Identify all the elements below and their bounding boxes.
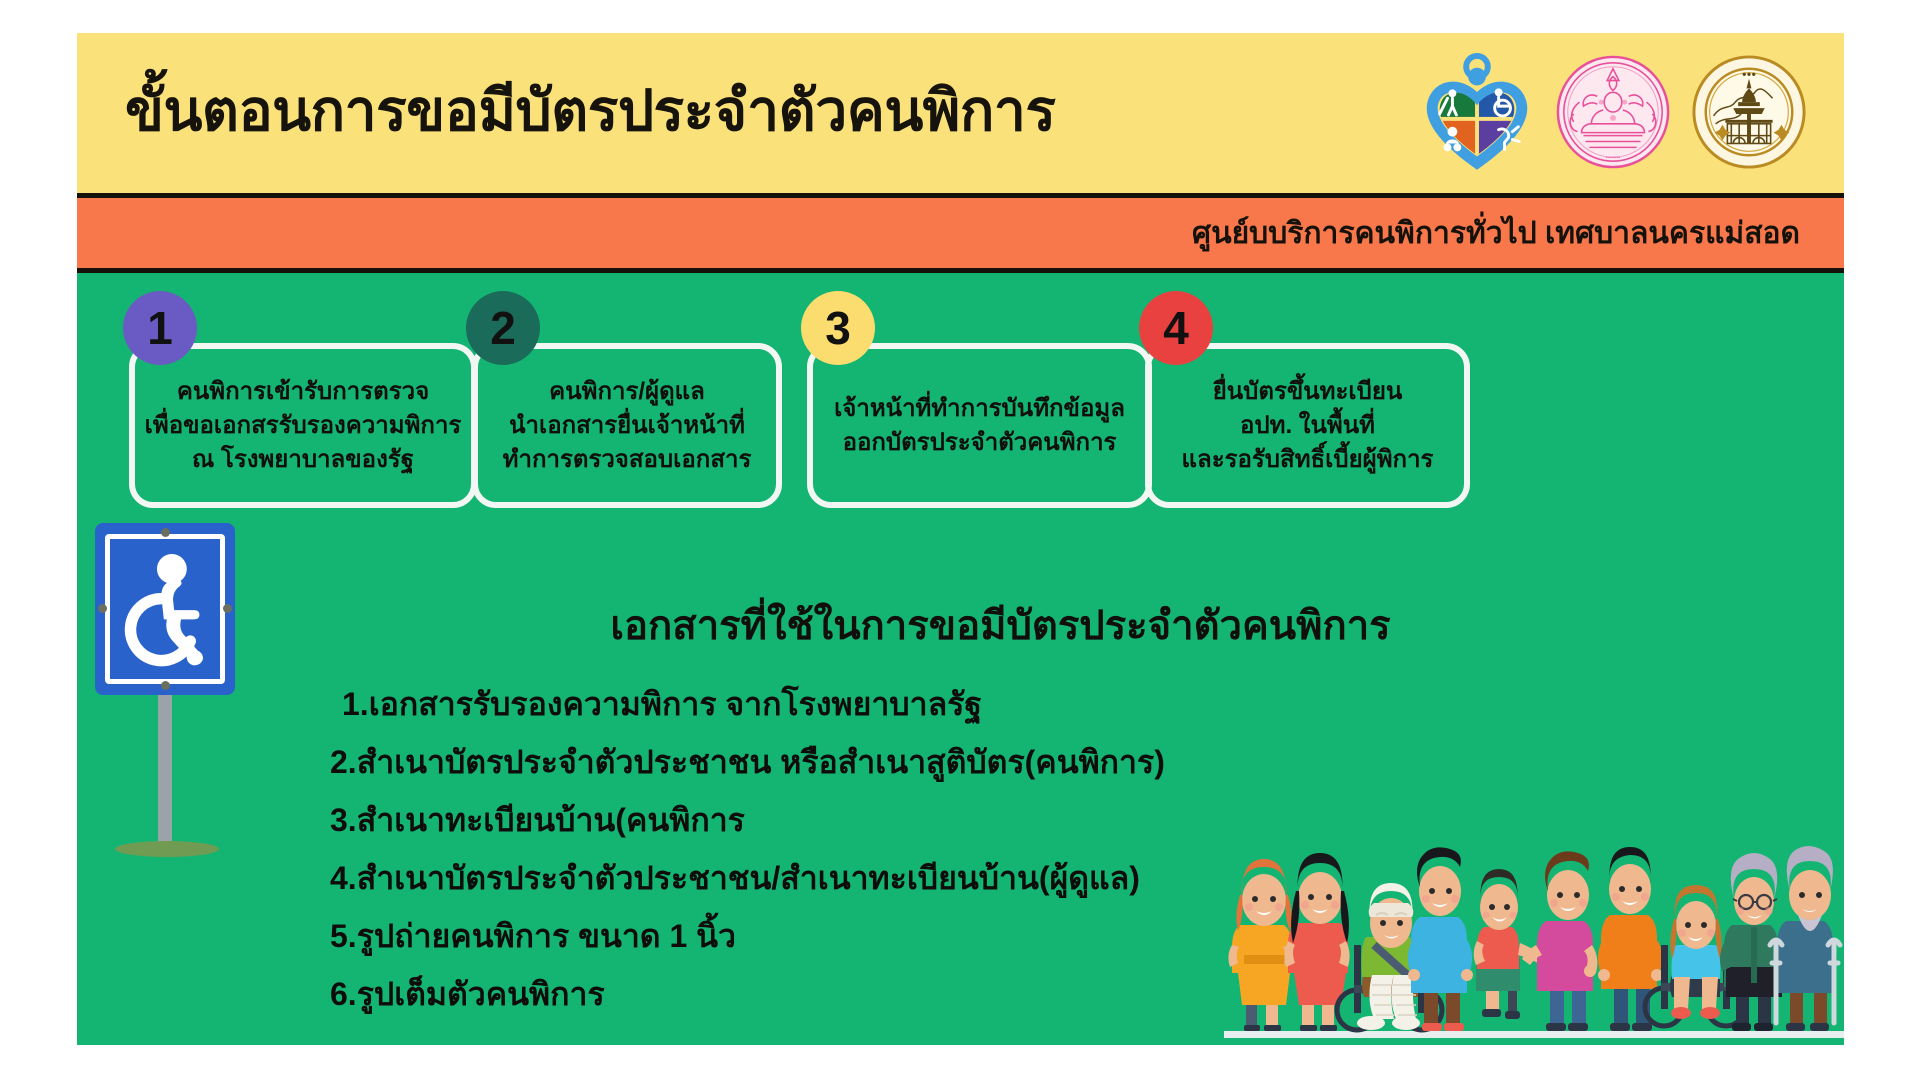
diverse-people-with-disabilities-illustration xyxy=(1224,795,1844,1045)
list-item: 1.เอกสารรับรองความพิการ จากโรงพยาบาลรัฐ xyxy=(342,688,1342,720)
wheelchair-symbol-icon xyxy=(95,523,235,695)
person-woman-magenta xyxy=(1522,851,1597,1031)
wheelchair-accessibility-sign xyxy=(95,523,235,853)
person-woman-orange xyxy=(1228,859,1293,1031)
step-number-badge-1: 1 xyxy=(123,291,197,365)
disability-heart-logo xyxy=(1418,53,1536,171)
person-man-orange xyxy=(1598,847,1663,1031)
person-elderly-man-crutches xyxy=(1770,846,1840,1031)
svg-text:●●●: ●●● xyxy=(1742,70,1756,79)
list-item: 6.รูปเต็มตัวคนพิการ xyxy=(330,978,1342,1010)
step-text-2: คนพิการ/ผู้ดูแล นำเอกสารยื่นเจ้าหน้าที่ … xyxy=(480,374,774,476)
poster: ขั้นตอนการขอมีบัตรประจำตัวคนพิการ xyxy=(77,33,1844,1045)
step-card-3: 3 เจ้าหน้าที่ทำการบันทึกข้อมูล ออกบัตรปร… xyxy=(807,343,1152,508)
subtitle-text: ศูนย์บบริการคนพิการทั่วไป เทศบาลนครแม่สอ… xyxy=(1192,210,1844,257)
step-text-1: คนพิการเข้ารับการตรวจ เพื่อขอเอกสรรับรอง… xyxy=(137,374,469,476)
sign-base xyxy=(115,841,219,857)
step-number-badge-2: 2 xyxy=(466,291,540,365)
page-title: ขั้นตอนการขอมีบัตรประจำตัวคนพิการ xyxy=(125,83,1056,140)
step-card-2: 2 คนพิการ/ผู้ดูแล นำเอกสารยื่นเจ้าหน้าที… xyxy=(472,343,782,508)
list-item: 3.สำเนาทะเบียนบ้าน(คนพิการ xyxy=(330,804,1342,836)
thai-government-seal-logo: ••••••• xyxy=(1554,53,1672,171)
sign-post xyxy=(158,688,172,853)
step-card-1: 1 คนพิการเข้ารับการตรวจ เพื่อขอเอกสรรับร… xyxy=(129,343,477,508)
step-text-4: ยื่นบัตรขึ้นทะเบียน อปท. ในพื้นที่ และรอ… xyxy=(1153,374,1462,476)
step-text-3: เจ้าหน้าที่ทำการบันทึกข้อมูล ออกบัตรประจ… xyxy=(815,391,1144,459)
documents-heading-text: เอกสารที่ใช้ในการขอมีบัตรประจำตัวคนพิการ xyxy=(530,604,1390,648)
subtitle-band: ศูนย์บบริการคนพิการทั่วไป เทศบาลนครแม่สอ… xyxy=(77,198,1844,273)
person-boy-prosthetic xyxy=(1474,869,1542,1019)
list-item: 2.สำเนาบัตรประจำตัวประชาชน หรือสำเนาสูติ… xyxy=(330,746,1342,778)
svg-text:•••••••: ••••••• xyxy=(1606,155,1620,161)
step-number-badge-3: 3 xyxy=(801,291,875,365)
step-number-badge-4: 4 xyxy=(1139,291,1213,365)
header-band: ขั้นตอนการขอมีบัตรประจำตัวคนพิการ xyxy=(77,33,1844,198)
mae-sot-municipality-seal-logo: ●●● xyxy=(1690,53,1808,171)
list-item: 5.รูปถ่ายคนพิการ ขนาด 1 นิ้ว xyxy=(330,920,1342,952)
logo-row: ••••••• xyxy=(1418,53,1808,171)
documents-list: 1.เอกสารรับรองความพิการ จากโรงพยาบาลรัฐ … xyxy=(342,688,1342,1036)
steps-row: 1 คนพิการเข้ารับการตรวจ เพื่อขอเอกสรรับร… xyxy=(77,308,1844,538)
list-item: 4.สำเนาบัตรประจำตัวประชาชน/สำเนาทะเบียนบ… xyxy=(330,862,1342,894)
sign-plate xyxy=(95,523,235,695)
step-card-4: 4 ยื่นบัตรขึ้นทะเบียน อปท. ในพื้นที่ และ… xyxy=(1145,343,1470,508)
documents-heading: เอกสารที่ใช้ในการขอมีบัตรประจำตัวคนพิการ xyxy=(77,593,1844,657)
